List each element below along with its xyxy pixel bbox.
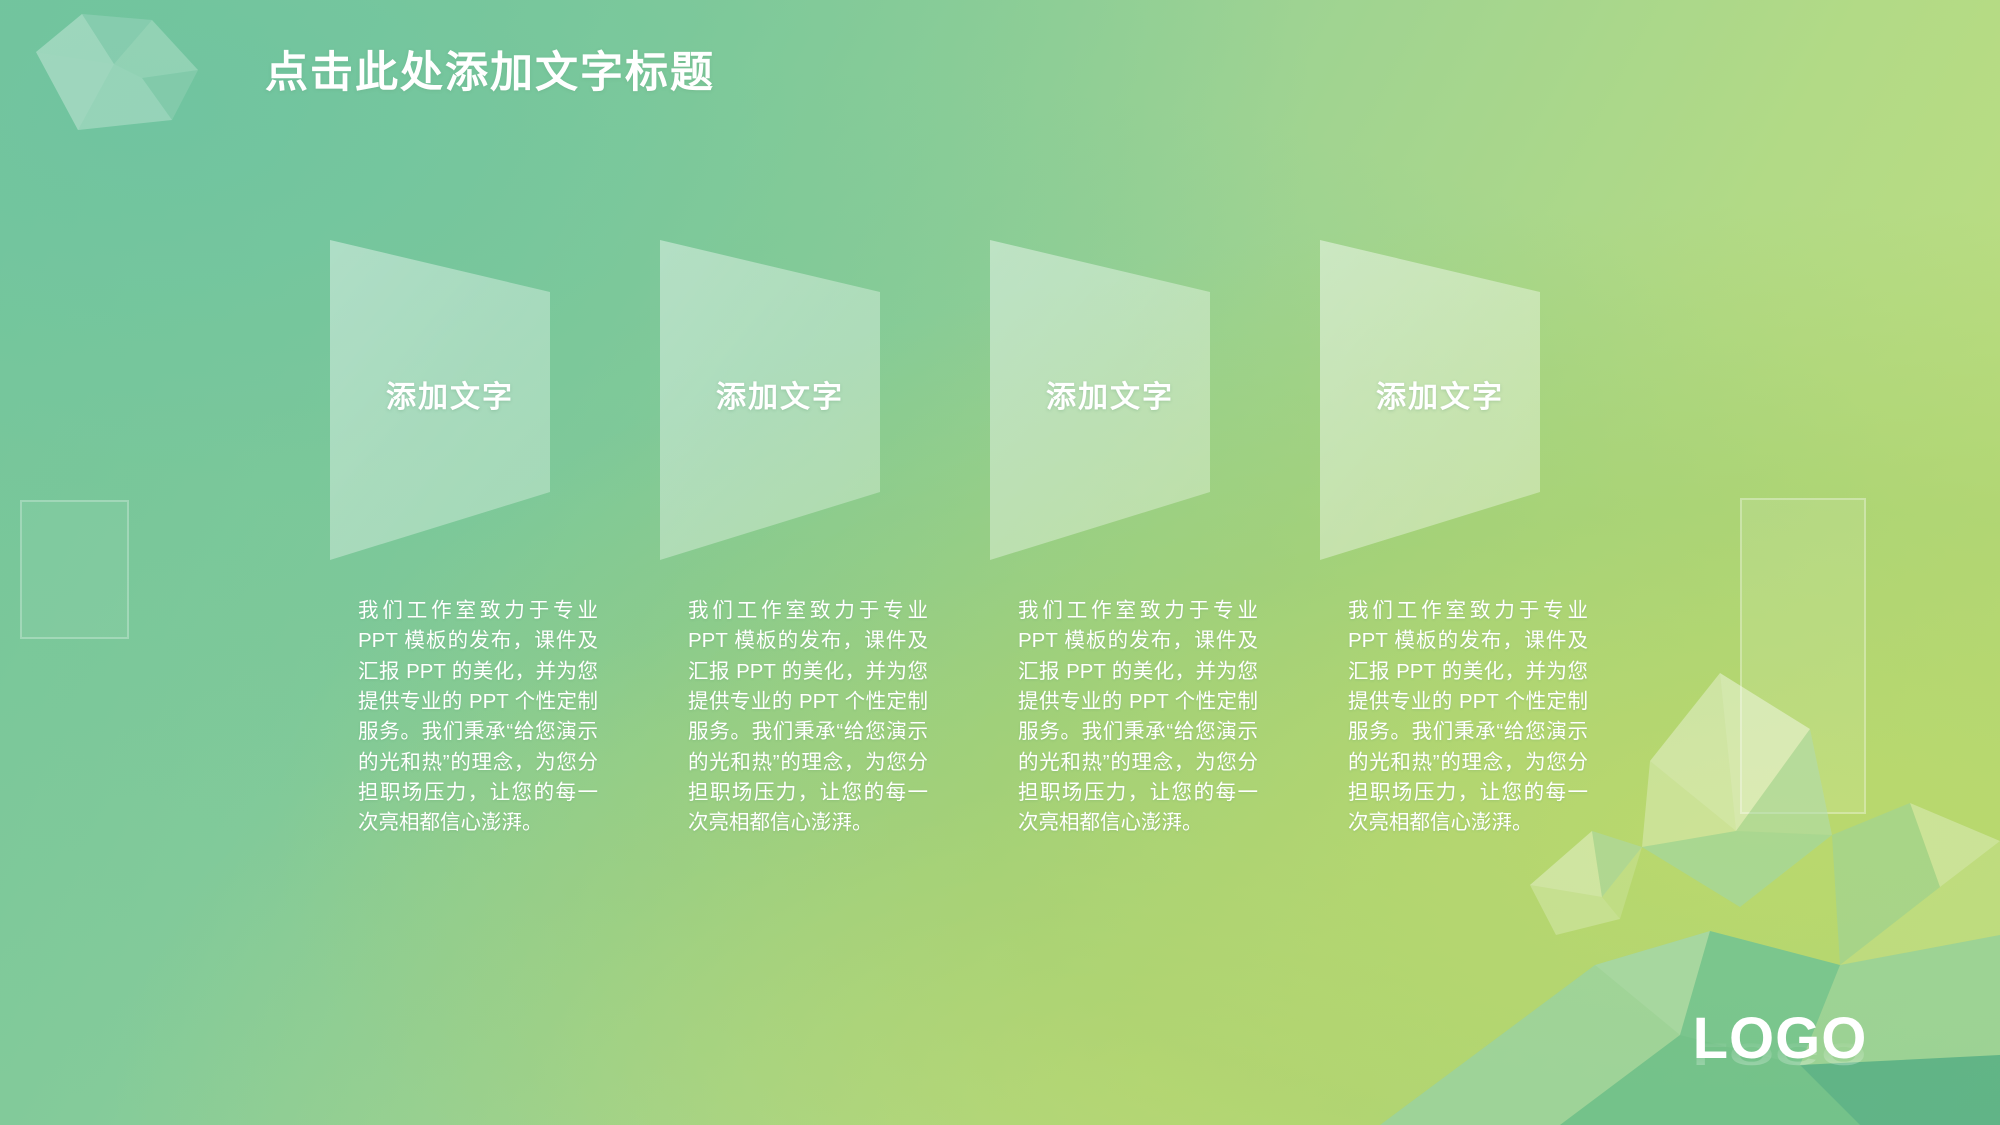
- column-label: 添加文字: [660, 372, 900, 416]
- column-label: 添加文字: [990, 372, 1230, 416]
- trapezoid-card-4[interactable]: 添加文字: [1320, 240, 1590, 560]
- column-label: 添加文字: [330, 372, 570, 416]
- column-body-text: 我们工作室致力于专业 PPT 模板的发布，课件及汇报 PPT 的美化，并为您提供…: [688, 596, 928, 839]
- logo-block[interactable]: LOGO LOGO: [1693, 1010, 1868, 1125]
- trapezoid-card-3[interactable]: 添加文字: [990, 240, 1260, 560]
- faceted-mountain-decoration-icon: [1380, 635, 2000, 1125]
- trapezoid-card-1[interactable]: 添加文字: [330, 240, 600, 560]
- logo-reflection: LOGO: [1693, 1038, 1868, 1070]
- trapezoid-card-2[interactable]: 添加文字: [660, 240, 930, 560]
- presentation-slide: 点击此处添加文字标题 添加文字 我们工作室致力于专业 PPT 模板的发布，: [0, 0, 2000, 1125]
- column-body-text: 我们工作室致力于专业 PPT 模板的发布，课件及汇报 PPT 的美化，并为您提供…: [358, 596, 598, 839]
- content-column-4: 添加文字 我们工作室致力于专业 PPT 模板的发布，课件及汇报 PPT 的美化，…: [1320, 240, 1650, 560]
- column-body-text: 我们工作室致力于专业 PPT 模板的发布，课件及汇报 PPT 的美化，并为您提供…: [1018, 596, 1258, 839]
- content-column-2: 添加文字 我们工作室致力于专业 PPT 模板的发布，课件及汇报 PPT 的美化，…: [660, 240, 990, 560]
- column-label: 添加文字: [1320, 372, 1560, 416]
- content-column-1: 添加文字 我们工作室致力于专业 PPT 模板的发布，课件及汇报 PPT 的美化，…: [330, 240, 660, 560]
- content-column-3: 添加文字 我们工作室致力于专业 PPT 模板的发布，课件及汇报 PPT 的美化，…: [990, 240, 1320, 560]
